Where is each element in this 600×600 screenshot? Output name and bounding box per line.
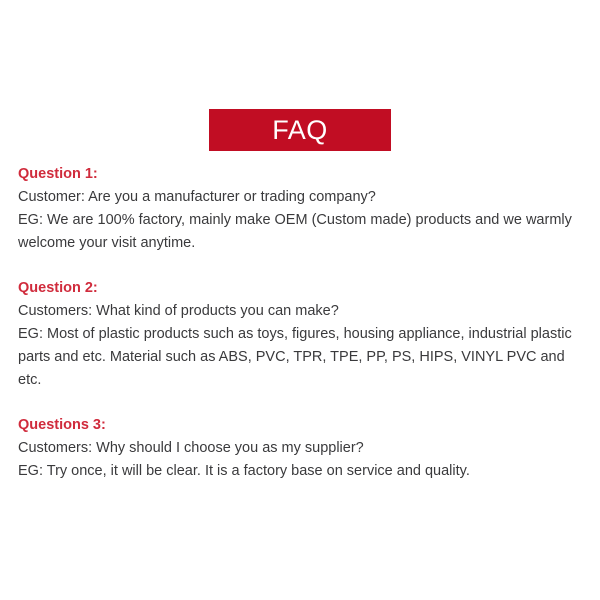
faq-item: Question 1: Customer: Are you a manufact… [18, 163, 584, 255]
faq-banner: FAQ [209, 109, 391, 151]
faq-item-question: Customers: What kind of products you can… [18, 300, 584, 323]
faq-banner-row: FAQ [0, 109, 600, 151]
faq-list: Question 1: Customer: Are you a manufact… [18, 163, 584, 483]
faq-item-heading: Question 1: [18, 163, 584, 186]
faq-item-question: Customer: Are you a manufacturer or trad… [18, 186, 584, 209]
faq-item-answer: EG: Most of plastic products such as toy… [18, 323, 584, 392]
faq-page: FAQ Question 1: Customer: Are you a manu… [0, 0, 600, 600]
faq-item-answer: EG: Try once, it will be clear. It is a … [18, 460, 584, 483]
faq-item-heading: Question 2: [18, 277, 584, 300]
faq-item-heading: Questions 3: [18, 414, 584, 437]
faq-item-answer: EG: We are 100% factory, mainly make OEM… [18, 209, 584, 255]
faq-item: Question 2: Customers: What kind of prod… [18, 277, 584, 392]
faq-item: Questions 3: Customers: Why should I cho… [18, 414, 584, 483]
faq-item-question: Customers: Why should I choose you as my… [18, 437, 584, 460]
page-title: FAQ [272, 117, 328, 144]
